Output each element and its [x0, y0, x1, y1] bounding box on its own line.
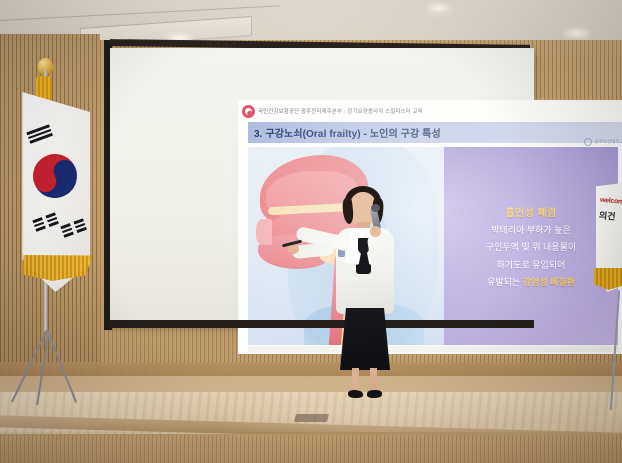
university-logo: 광주보건대학교 — [584, 138, 622, 146]
microphone-head-icon — [371, 204, 380, 212]
side-banner-text-main: 의건 — [598, 208, 616, 222]
panel-line-1: 박테리아 부하가 높은 — [491, 224, 571, 236]
stage-front-panel — [0, 434, 622, 463]
panel-line-2: 구인두액 및 위 내용물이 — [486, 241, 576, 253]
lip-structure — [256, 219, 272, 245]
university-name: 광주보건대학교 — [594, 139, 622, 145]
presenter-shoe-left — [348, 390, 363, 398]
panel-line-3: 하기도로 유입되어 — [497, 259, 566, 271]
nhis-heart-logo-icon — [242, 105, 255, 118]
downlight-icon — [426, 4, 452, 14]
lecture-hall-scene: 국민건강보험공단 광주전라제주본부 : 장기요양종사자 스킬마스터 교육 3. … — [0, 0, 622, 463]
university-mark-icon — [584, 138, 592, 146]
presenter — [318, 186, 410, 400]
presentation-slide: 국민건강보험공단 광주전라제주본부 : 장기요양종사자 스킬마스터 교육 3. … — [238, 100, 622, 354]
panel-line-4-accent: 감염성 폐질환 — [523, 277, 575, 287]
downlight-icon — [564, 29, 590, 39]
presenter-hand-right — [370, 226, 381, 237]
floor-sheen — [0, 392, 622, 432]
slide-title-bar: 3. 구강노쇠(Oral frailty) - 노인의 구강 특성 — [248, 122, 622, 143]
slide-text-panel: 흡인성 폐렴 박테리아 부하가 높은 구인두액 및 위 내용물이 하기도로 유입… — [444, 147, 618, 345]
panel-line-4: 유발되는 감염성 폐질환 — [487, 276, 575, 288]
panel-line-4-prefix: 유발되는 — [487, 277, 523, 287]
presenter-skirt — [340, 308, 390, 370]
slide-organization-line: 국민건강보험공단 광주전라제주본부 : 장기요양종사자 스킬마스터 교육 — [258, 107, 423, 115]
panel-heading: 흡인성 폐렴 — [505, 204, 556, 219]
slide-title: 3. 구강노쇠(Oral frailty) - 노인의 구강 특성 — [254, 125, 441, 140]
slide-footer — [248, 346, 618, 352]
slide-header: 국민건강보험공단 광주전라제주본부 : 장기요양종사자 스킬마스터 교육 — [238, 100, 622, 122]
presenter-shoe-right — [367, 390, 382, 398]
